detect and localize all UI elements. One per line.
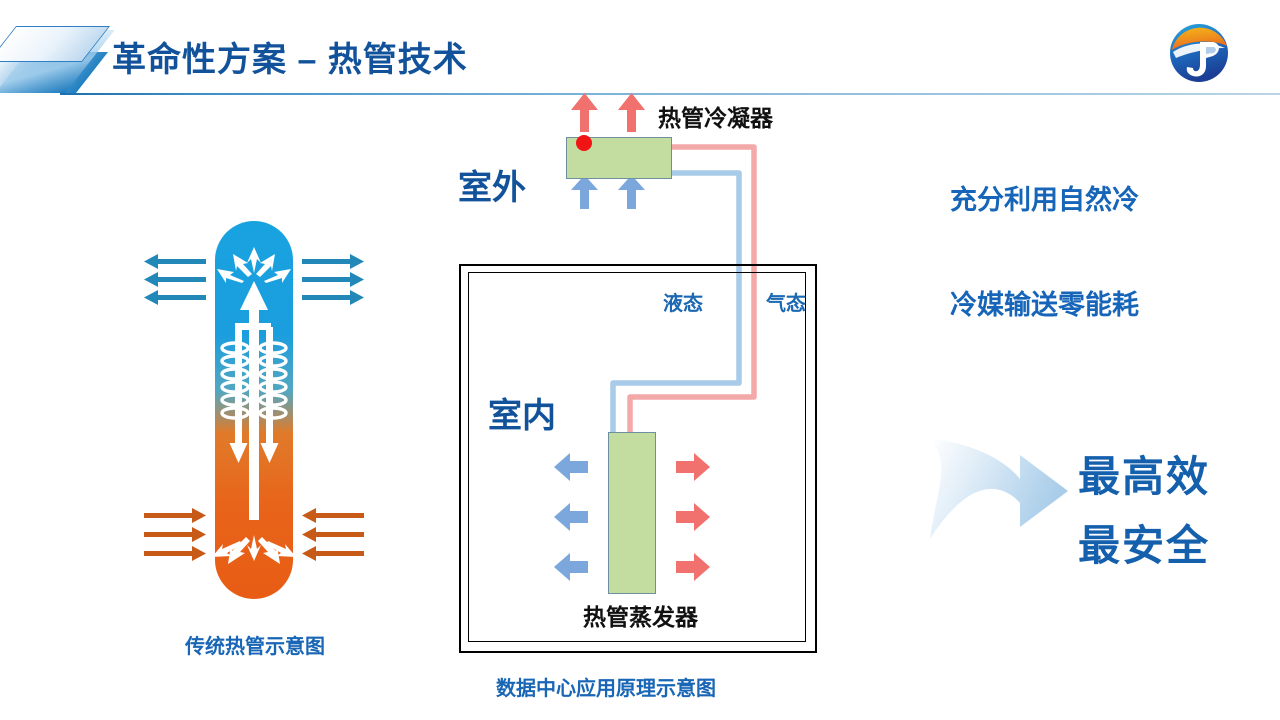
benefit-item-1: 充分利用自然冷	[950, 178, 1139, 217]
label-indoor: 室内	[488, 388, 556, 437]
conclusion-item-1: 最高效	[1078, 443, 1210, 504]
temperature-marker-dot	[576, 135, 592, 151]
condenser-cold-in-arrows	[571, 175, 645, 209]
label-liquid-phase: 液态	[663, 287, 703, 316]
emphasis-arrow-icon	[928, 435, 1070, 543]
label-gas-phase: 气态	[766, 287, 806, 316]
condenser-hot-out-arrows	[571, 93, 645, 132]
schematic-caption: 数据中心应用原理示意图	[496, 672, 716, 701]
benefit-item-2: 冷媒输送零能耗	[950, 283, 1139, 322]
conclusion-item-2: 最安全	[1078, 512, 1210, 573]
label-heat-pipe-evaporator: 热管蒸发器	[583, 598, 698, 632]
data-center-schematic: 室外 室内 热管冷凝器 热管蒸发器 液态 气态	[0, 0, 1280, 720]
label-heat-pipe-condenser: 热管冷凝器	[658, 99, 773, 133]
heat-pipe-evaporator-unit	[608, 432, 656, 594]
label-outdoor: 室外	[458, 160, 526, 209]
